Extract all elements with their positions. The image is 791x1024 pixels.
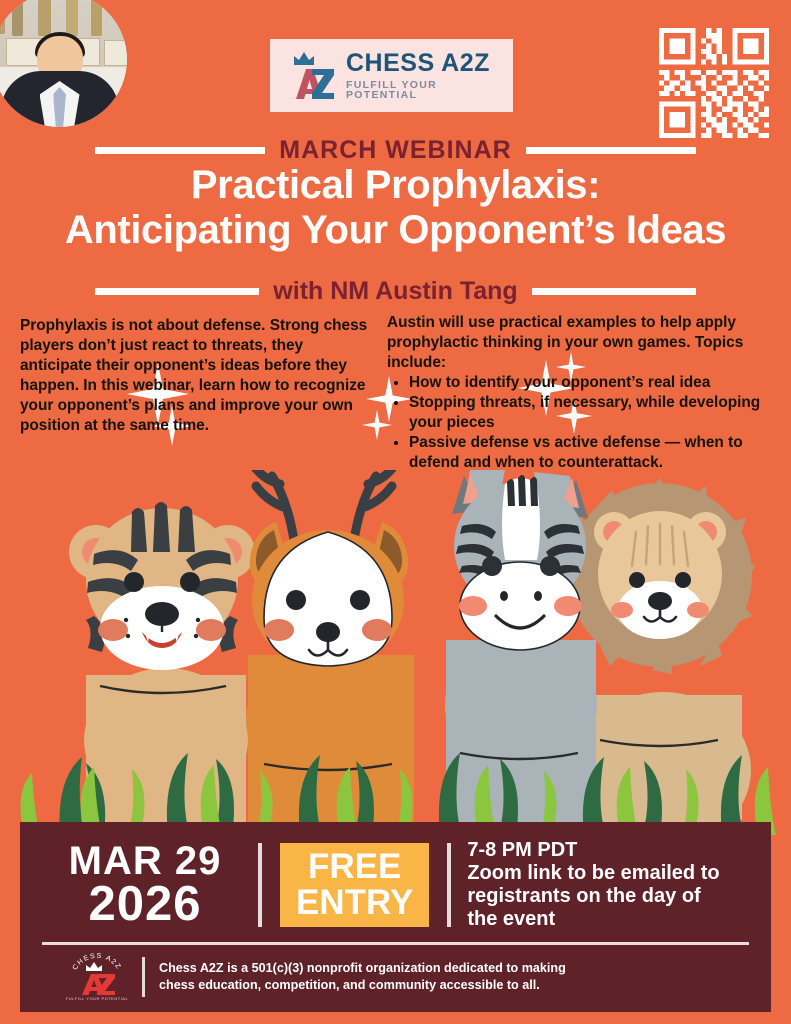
list-item: Passive defense vs active defense — when… [409, 433, 775, 473]
rule-left [95, 147, 265, 154]
kicker-row: MARCH WEBINAR [95, 136, 696, 165]
title-line-2: Anticipating Your Opponent’s Ideas [12, 208, 779, 253]
event-time: 7-8 PM PDT [467, 839, 719, 862]
svg-text:FULFILL YOUR POTENTIAL: FULFILL YOUR POTENTIAL [66, 996, 128, 1001]
divider-vertical [142, 957, 145, 997]
logo-title: CHESS A2Z [346, 51, 501, 76]
nonprofit-note: Chess A2Z is a 501(c)(3) nonprofit organ… [159, 960, 566, 993]
award-plaque [104, 40, 127, 66]
presenter-portrait [0, 0, 127, 127]
deer-illustration [246, 470, 414, 830]
qr-code[interactable] [659, 28, 769, 138]
presenter-row: with NM Austin Tang [95, 277, 696, 306]
free-entry-line-1: FREE [296, 849, 413, 885]
free-entry-line-2: ENTRY [296, 885, 413, 921]
topics-list: How to identify your opponent’s real ide… [387, 373, 775, 473]
event-details-line-3: the event [467, 908, 719, 931]
footer-row: CHESS A2Z FULFILL YOUR POTENTIAL Chess A… [20, 945, 771, 1001]
description-right: Austin will use practical examples to he… [387, 313, 775, 473]
animal-illustration [0, 470, 791, 835]
banner-top-row: MAR 29 2026 FREE ENTRY 7-8 PM PDT Zoom l… [20, 822, 771, 940]
event-details-line-1: Zoom link to be emailed to [467, 862, 719, 885]
footer-logo: CHESS A2Z FULFILL YOUR POTENTIAL [66, 953, 128, 1001]
nonprofit-note-line-1: Chess A2Z is a 501(c)(3) nonprofit organ… [159, 960, 566, 977]
rule-right [526, 147, 696, 154]
trophy-icon [38, 0, 51, 36]
presenter-label: with NM Austin Tang [273, 277, 517, 306]
page-title: Practical Prophylaxis: Anticipating Your… [0, 163, 791, 253]
rule-left [95, 288, 259, 295]
trophy-icon [66, 0, 78, 36]
description-left: Prophylaxis is not about defense. Strong… [20, 316, 376, 436]
event-date-day: MAR 29 [32, 842, 258, 880]
list-item: Stopping threats, if necessary, while de… [409, 393, 775, 433]
divider-vertical [258, 843, 262, 927]
logo-tagline: FULFILL YOUR POTENTIAL [346, 80, 501, 101]
event-details-line-2: registrants on the day of [467, 885, 719, 908]
free-entry-badge: FREE ENTRY [280, 843, 429, 926]
event-time-details: 7-8 PM PDT Zoom link to be emailed to re… [451, 839, 719, 930]
event-details-banner: MAR 29 2026 FREE ENTRY 7-8 PM PDT Zoom l… [20, 822, 771, 1012]
event-date: MAR 29 2026 [20, 842, 258, 927]
zebra-illustration [445, 470, 597, 830]
trophy-icon [12, 0, 23, 36]
rule-right [532, 288, 696, 295]
title-line-1: Practical Prophylaxis: [12, 163, 779, 208]
kicker-label: MARCH WEBINAR [279, 136, 511, 165]
chess-a2z-logo: CHESS A2Z FULFILL YOUR POTENTIAL [270, 39, 513, 112]
nonprofit-note-line-2: chess education, competition, and commun… [159, 977, 566, 994]
webinar-flyer: CHESS A2Z FULFILL YOUR POTENTIAL [0, 0, 791, 1024]
logo-text: CHESS A2Z FULFILL YOUR POTENTIAL [346, 51, 501, 101]
trophy-icon [91, 0, 102, 36]
logo-mark-icon [282, 49, 338, 103]
trophy-icon [0, 0, 5, 34]
list-item: How to identify your opponent’s real ide… [409, 373, 775, 393]
topics-intro: Austin will use practical examples to he… [387, 313, 775, 373]
event-date-year: 2026 [32, 881, 258, 928]
